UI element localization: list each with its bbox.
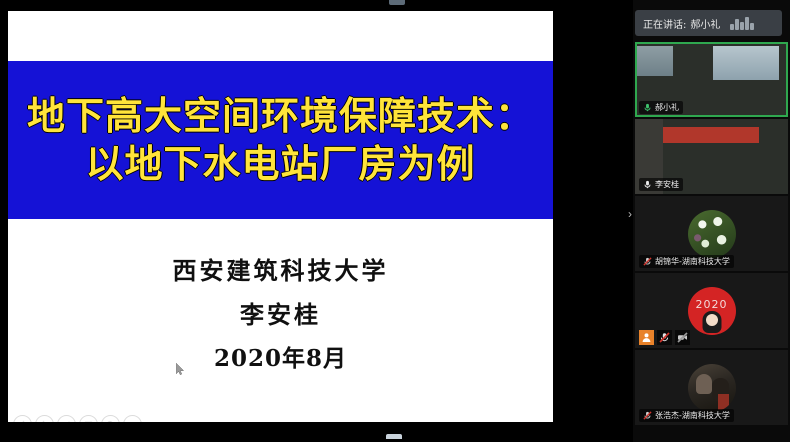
participant-tile-1[interactable]: 郝小礼: [635, 42, 788, 117]
active-speaker-name: 郝小礼: [690, 16, 720, 31]
participant-tile-5[interactable]: 张浩杰-湖南科技大学: [635, 350, 788, 425]
participant-2-name: 李安桂: [655, 179, 679, 190]
presentation-slide[interactable]: 地下高大空间环境保障技术： 以地下水电站厂房为例 西安建筑科技大学 李安桂 20…: [8, 11, 553, 422]
participant-5-name: 张浩杰-湖南科技大学: [655, 410, 730, 421]
bottom-toolbar-handle[interactable]: [386, 434, 402, 439]
collapse-panel-chevron-icon[interactable]: ›: [628, 208, 632, 220]
microphone-muted-icon: [657, 330, 672, 345]
audio-wave-icon: [730, 17, 754, 30]
participant-5-namebar: 张浩杰-湖南科技大学: [639, 409, 734, 422]
microphone-on-icon: [643, 103, 652, 112]
zoom-tool-icon[interactable]: [101, 415, 120, 422]
slide-affiliation: 西安建筑科技大学: [8, 249, 553, 293]
tile-1-background-window-left: [637, 46, 673, 76]
participant-rail: 正在讲话: 郝小礼 郝小礼: [633, 0, 790, 442]
next-slide-icon[interactable]: [35, 415, 54, 422]
shared-screen-stage: 地下高大空间环境保障技术： 以地下水电站厂房为例 西安建筑科技大学 李安桂 20…: [0, 0, 633, 442]
participant-5-avatar-shape-1: [696, 374, 712, 394]
active-speaker-label: 正在讲话:: [643, 16, 686, 31]
microphone-muted-icon: [643, 411, 652, 420]
slideshow-toolbar[interactable]: [13, 415, 142, 422]
participant-tiles: 郝小礼 李安桂: [633, 42, 790, 427]
microphone-muted-icon: [643, 257, 652, 266]
participant-tile-2[interactable]: 李安桂: [635, 119, 788, 194]
previous-slide-icon[interactable]: [13, 415, 32, 422]
more-options-icon[interactable]: [123, 415, 142, 422]
slide-date: 2020年8月: [8, 337, 553, 381]
meeting-window: 地下高大空间环境保障技术： 以地下水电站厂房为例 西安建筑科技大学 李安桂 20…: [0, 0, 790, 442]
slide-title-line-2: 以地下水电站厂房为例: [85, 140, 475, 188]
participant-tile-3[interactable]: 胡锦华-湖南科技大学: [635, 196, 788, 271]
active-speaker-banner: 正在讲话: 郝小礼: [635, 10, 782, 36]
participant-3-avatar: [688, 210, 736, 258]
pen-tool-icon[interactable]: [57, 415, 76, 422]
slide-author: 李安桂: [8, 293, 553, 337]
microphone-on-icon: [643, 180, 652, 189]
mouse-cursor: [176, 363, 184, 375]
top-toolbar-handle[interactable]: [389, 0, 405, 5]
participant-5-avatar: [688, 364, 736, 412]
slide-title-line-1: 地下高大空间环境保障技术：: [27, 92, 534, 140]
camera-off-icon: [675, 330, 690, 345]
slide-body: 西安建筑科技大学 李安桂 2020年8月: [8, 249, 553, 381]
user-avatar-icon: [639, 330, 654, 345]
participant-5-avatar-shape-3: [718, 394, 729, 410]
slide-title-band: 地下高大空间环境保障技术： 以地下水电站厂房为例: [8, 61, 553, 219]
participant-1-namebar: 郝小礼: [639, 101, 683, 114]
tile-2-background-banner: [663, 127, 759, 143]
participant-4-status-icons: [639, 330, 690, 345]
participant-3-namebar: 胡锦华-湖南科技大学: [639, 255, 734, 268]
participant-1-name: 郝小礼: [655, 102, 679, 113]
participant-tile-4[interactable]: 2020: [635, 273, 788, 348]
participant-4-avatar-face: [706, 314, 718, 326]
participant-2-namebar: 李安桂: [639, 178, 683, 191]
tile-1-background-window-right: [713, 46, 779, 80]
participant-3-name: 胡锦华-湖南科技大学: [655, 256, 730, 267]
all-slides-icon[interactable]: [79, 415, 98, 422]
participant-4-avatar: 2020: [688, 287, 736, 335]
participant-4-avatar-text: 2020: [688, 298, 736, 311]
